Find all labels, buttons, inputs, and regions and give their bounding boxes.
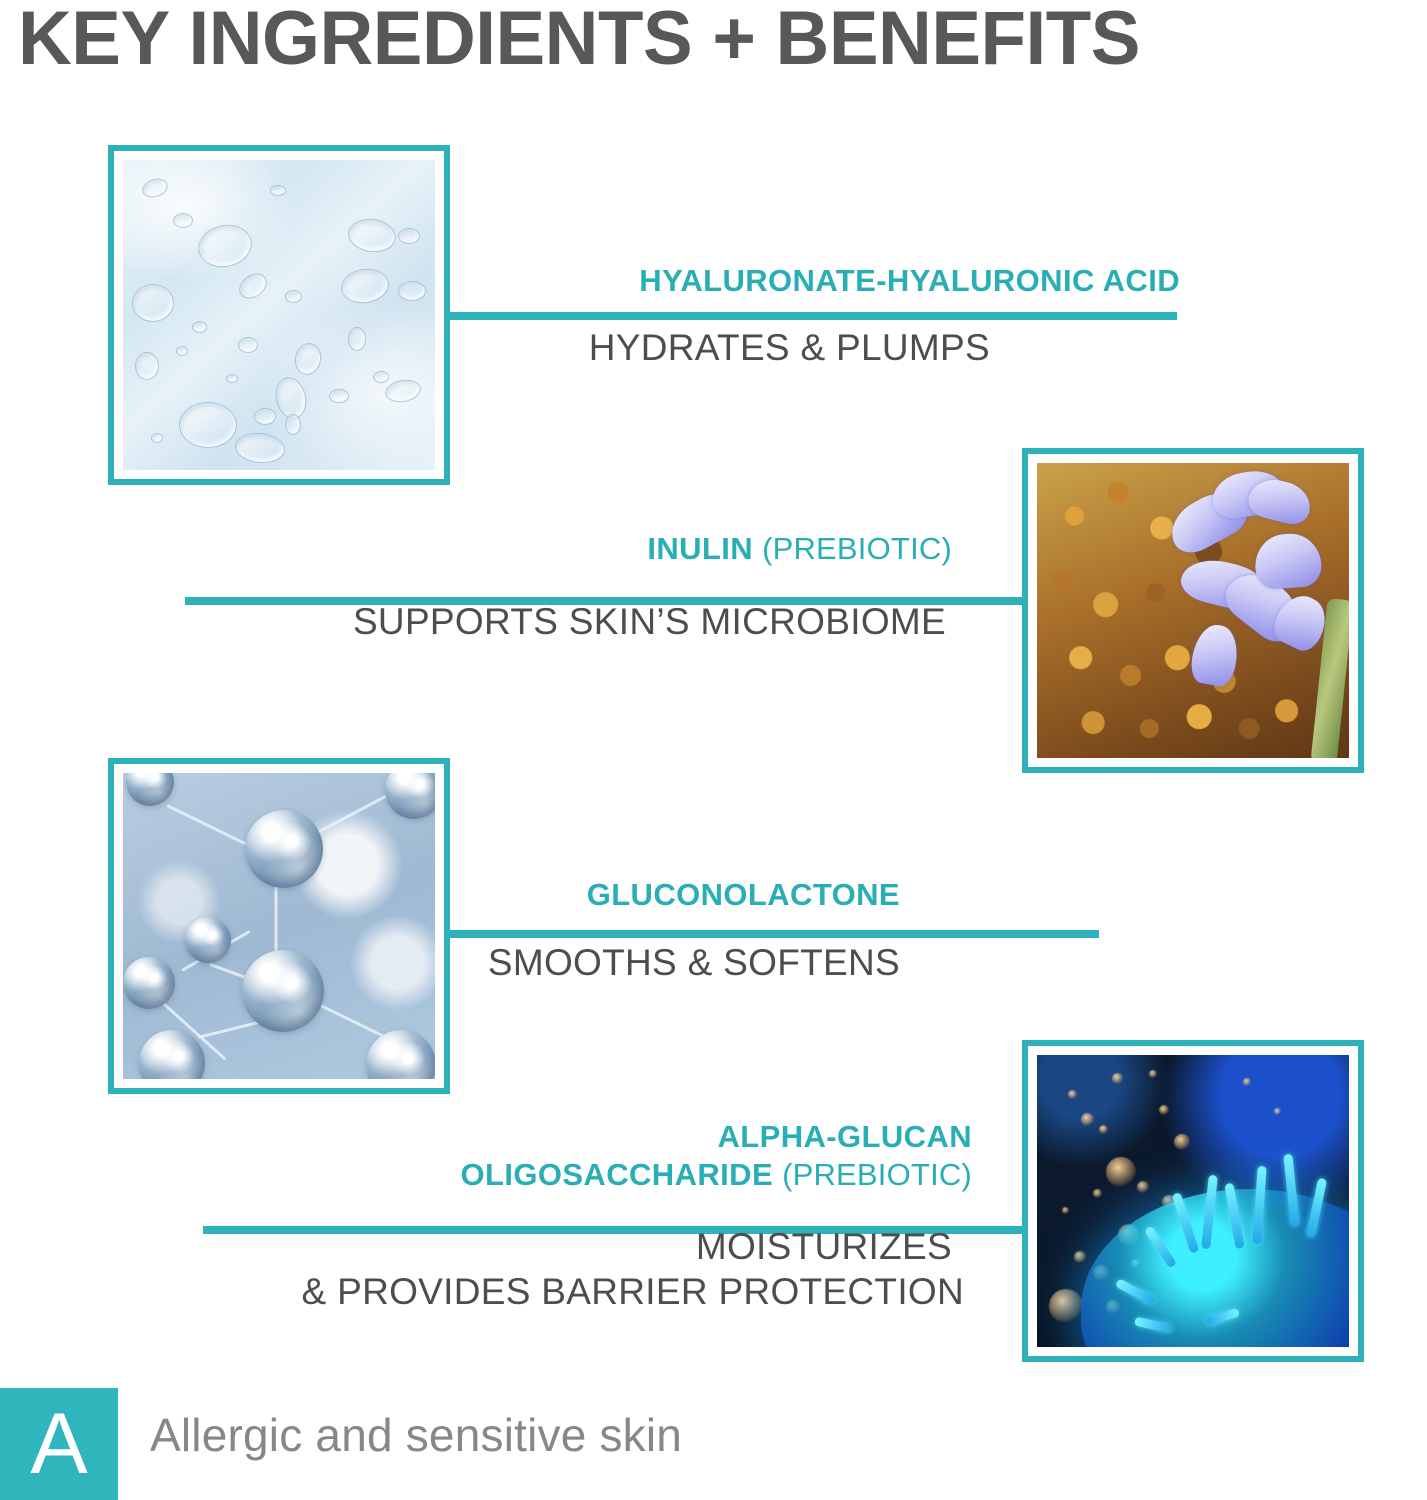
ingredient-name-bold-line1: ALPHA-GLUCAN: [718, 1119, 973, 1154]
ingredient-name-bold: GLUCONOLACTONE: [587, 877, 900, 912]
ingredient-image-gluconolactone: [108, 758, 450, 1094]
ingredient-image-inulin: [1022, 448, 1364, 773]
ingredient-image-hyaluronate: [108, 145, 450, 485]
ingredient-benefit-inulin: SUPPORTS SKIN’S MICROBIOME: [0, 599, 952, 644]
ingredient-name-qualifier: (PREBIOTIC): [782, 1157, 972, 1192]
ingredient-name-inulin: INULIN (PREBIOTIC): [0, 530, 952, 568]
ingredient-name-qualifier: (PREBIOTIC): [762, 531, 952, 566]
page-title: KEY INGREDIENTS + BENEFITS: [18, 0, 1390, 81]
ingredient-image-alphaglucan: [1022, 1040, 1364, 1362]
hyaluronic-gel-bubbles-illustration: [123, 160, 435, 470]
ingredient-name-bold: HYALURONATE-HYALURONIC ACID: [639, 263, 1180, 298]
ingredient-benefit-alphaglucan: MOISTURIZES & PROVIDES BARRIER PROTECTIO…: [0, 1224, 972, 1314]
benefit-line-2: & PROVIDES BARRIER PROTECTION: [0, 1269, 972, 1314]
ingredient-block-alphaglucan: ALPHA-GLUCAN OLIGOSACCHARIDE (PREBIOTIC)…: [0, 1118, 972, 1314]
footer: A Allergic and sensitive skin: [0, 1388, 1427, 1500]
ingredient-name-bold-line2: OLIGOSACCHARIDE: [460, 1157, 773, 1192]
allergy-badge: A: [0, 1388, 118, 1500]
microbiome-bacteria-illustration: [1037, 1055, 1349, 1347]
ingredient-block-inulin: INULIN (PREBIOTIC) SUPPORTS SKIN’S MICRO…: [0, 530, 952, 644]
ingredient-name-bold: INULIN: [647, 531, 753, 566]
benefit-line-1: MOISTURIZES: [0, 1224, 972, 1269]
chicory-root-and-flower-illustration: [1037, 463, 1349, 758]
molecule-structure-illustration: [123, 773, 435, 1079]
chicory-flower: [1037, 463, 1349, 758]
ingredient-name-alphaglucan: ALPHA-GLUCAN OLIGOSACCHARIDE (PREBIOTIC): [0, 1118, 972, 1194]
footer-caption: Allergic and sensitive skin: [150, 1408, 682, 1462]
